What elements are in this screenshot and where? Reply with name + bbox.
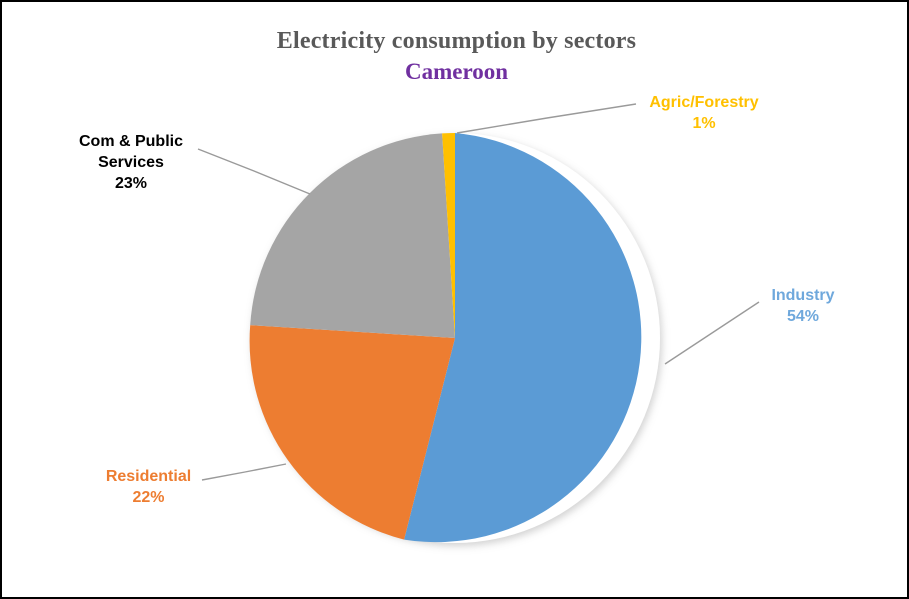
leader-line-com-public-services <box>198 149 310 194</box>
leader-line-agric-forestry <box>457 104 636 133</box>
pie-label-agric-forestry-percent: 1% <box>639 113 769 134</box>
chart-canvas: Electricity consumption by sectors Camer… <box>0 0 909 599</box>
pie-label-industry-name: Industry <box>771 287 834 304</box>
pie-label-com-public-services-name-line2: Services <box>58 152 204 173</box>
pie-label-com-public-services-percent: 23% <box>58 173 204 194</box>
pie-slice-com-public-services[interactable] <box>250 133 455 338</box>
pie-label-residential: Residential 22% <box>86 466 211 508</box>
pie-label-com-public-services-name-line1: Com & Public <box>79 133 183 150</box>
pie-label-industry-percent: 54% <box>762 306 844 327</box>
pie-label-residential-percent: 22% <box>86 487 211 508</box>
pie-label-com-public-services: Com & Public Services 23% <box>58 131 204 194</box>
pie-label-industry: Industry 54% <box>762 285 844 327</box>
leader-line-industry <box>665 302 759 364</box>
pie-label-agric-forestry: Agric/Forestry 1% <box>639 92 769 134</box>
leader-line-residential <box>202 464 286 480</box>
pie-label-residential-name: Residential <box>106 468 191 485</box>
pie-label-agric-forestry-name: Agric/Forestry <box>649 94 758 111</box>
